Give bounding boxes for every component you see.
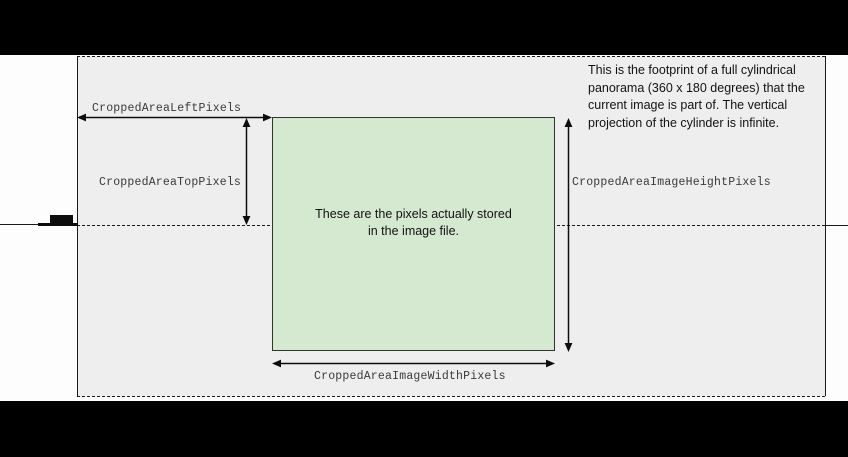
- stored-image-caption: These are the pixels actually stored in …: [273, 206, 554, 240]
- cropped-area-image-height-pixels-label: CroppedAreaImageHeightPixels: [572, 176, 771, 189]
- panorama-top-boundary-dashed: [77, 56, 825, 57]
- cropped-area-top-pixels-label: CroppedAreaTopPixels: [99, 176, 241, 189]
- stored-image-rect: These are the pixels actually stored in …: [272, 117, 555, 351]
- cropped-area-image-height-pixels-arrow: [561, 112, 577, 360]
- diagram-canvas: These are the pixels actually stored in …: [0, 0, 848, 457]
- horizon-marker-block: [50, 215, 73, 223]
- horizon-line-left-thick: [38, 223, 78, 226]
- cropped-area-top-pixels-arrow: [239, 112, 255, 234]
- panorama-left-boundary: [77, 56, 78, 396]
- cropped-area-image-width-pixels-label: CroppedAreaImageWidthPixels: [314, 370, 506, 383]
- panorama-bottom-boundary-dashed: [77, 396, 825, 397]
- panorama-footprint-note: This is the footprint of a full cylindri…: [588, 62, 830, 132]
- horizon-line-right-solid: [825, 225, 848, 226]
- cropped-area-left-pixels-label: CroppedAreaLeftPixels: [92, 102, 241, 115]
